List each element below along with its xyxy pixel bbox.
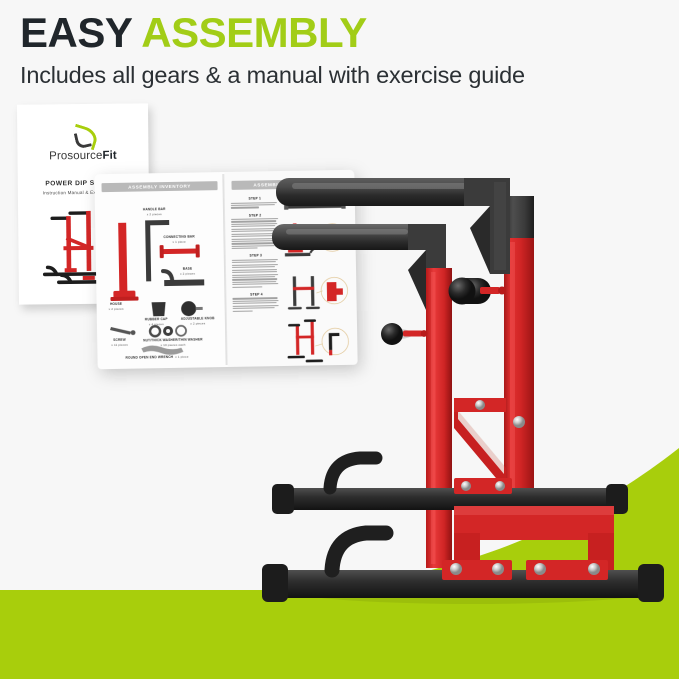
- part-qty: x 4 pieces: [149, 322, 164, 326]
- brand-primary: Prosource: [49, 150, 102, 163]
- rubber-end-cap: [638, 564, 664, 602]
- part-qty: x 1 piece: [172, 239, 185, 243]
- red-vertical-post-front: [426, 268, 452, 568]
- rubber-end-cap: [262, 564, 288, 602]
- headline-word-easy: EASY: [20, 9, 132, 56]
- manual-page-inventory: ASSEMBLY INVENTORY: [94, 172, 227, 369]
- pushup-handle-front: [332, 533, 386, 570]
- part-label: BASEx 2 pieces: [180, 267, 195, 277]
- pushup-handle-rear: [330, 458, 376, 488]
- part-label: HANDLE BARx 2 pieces: [143, 207, 166, 217]
- brand-logo: ProsourceFit: [17, 125, 148, 162]
- brand-name: ProsourceFit: [17, 149, 148, 162]
- part-label: NUT/THICK WASHER/THIN WASHERx 10 pieces …: [143, 337, 203, 348]
- bolt: [513, 416, 525, 428]
- part-label: RUBBER CAPx 4 pieces: [145, 317, 168, 327]
- part-label: CONNECTING BARx 1 piece: [163, 235, 194, 245]
- brand-secondary: Fit: [102, 150, 116, 162]
- part-qty: x 2 pieces: [147, 212, 162, 216]
- subheadline: Includes all gears & a manual with exerc…: [20, 62, 525, 89]
- swoosh-logo-icon: [68, 126, 98, 148]
- adjustment-knob-lower: [381, 323, 427, 345]
- part-label: HOUSEx 2 pieces: [109, 302, 124, 312]
- headline-block: EASY ASSEMBLY Includes all gears & a man…: [20, 12, 525, 89]
- adjustment-knob-upper: [449, 278, 507, 305]
- marketing-banner: EASY ASSEMBLY Includes all gears & a man…: [0, 0, 679, 679]
- inventory-parts-grid: HANDLE BARx 2 pieces CONNECTING BARx 1 p…: [101, 196, 222, 365]
- inventory-header: ASSEMBLY INVENTORY: [101, 181, 217, 192]
- part-qty: x 11 pieces: [111, 343, 128, 347]
- part-qty: x 1 piece: [175, 355, 188, 359]
- rubber-end-cap: [272, 484, 294, 514]
- part-qty: x 2 pieces: [180, 271, 195, 275]
- lower-dip-handle-bar: [272, 224, 446, 310]
- part-qty: x 2 pieces: [190, 321, 205, 325]
- product-image-power-dip-station: [258, 78, 679, 623]
- part-label: SCREWx 11 pieces: [111, 338, 128, 348]
- part-qty: x 2 pieces: [109, 307, 124, 311]
- page-title: EASY ASSEMBLY: [20, 12, 525, 55]
- part-qty: x 10 pieces each: [161, 343, 186, 347]
- headline-word-assembly: ASSEMBLY: [141, 9, 367, 56]
- part-label: ADJUSTABLE KNOBx 2 pieces: [181, 316, 215, 326]
